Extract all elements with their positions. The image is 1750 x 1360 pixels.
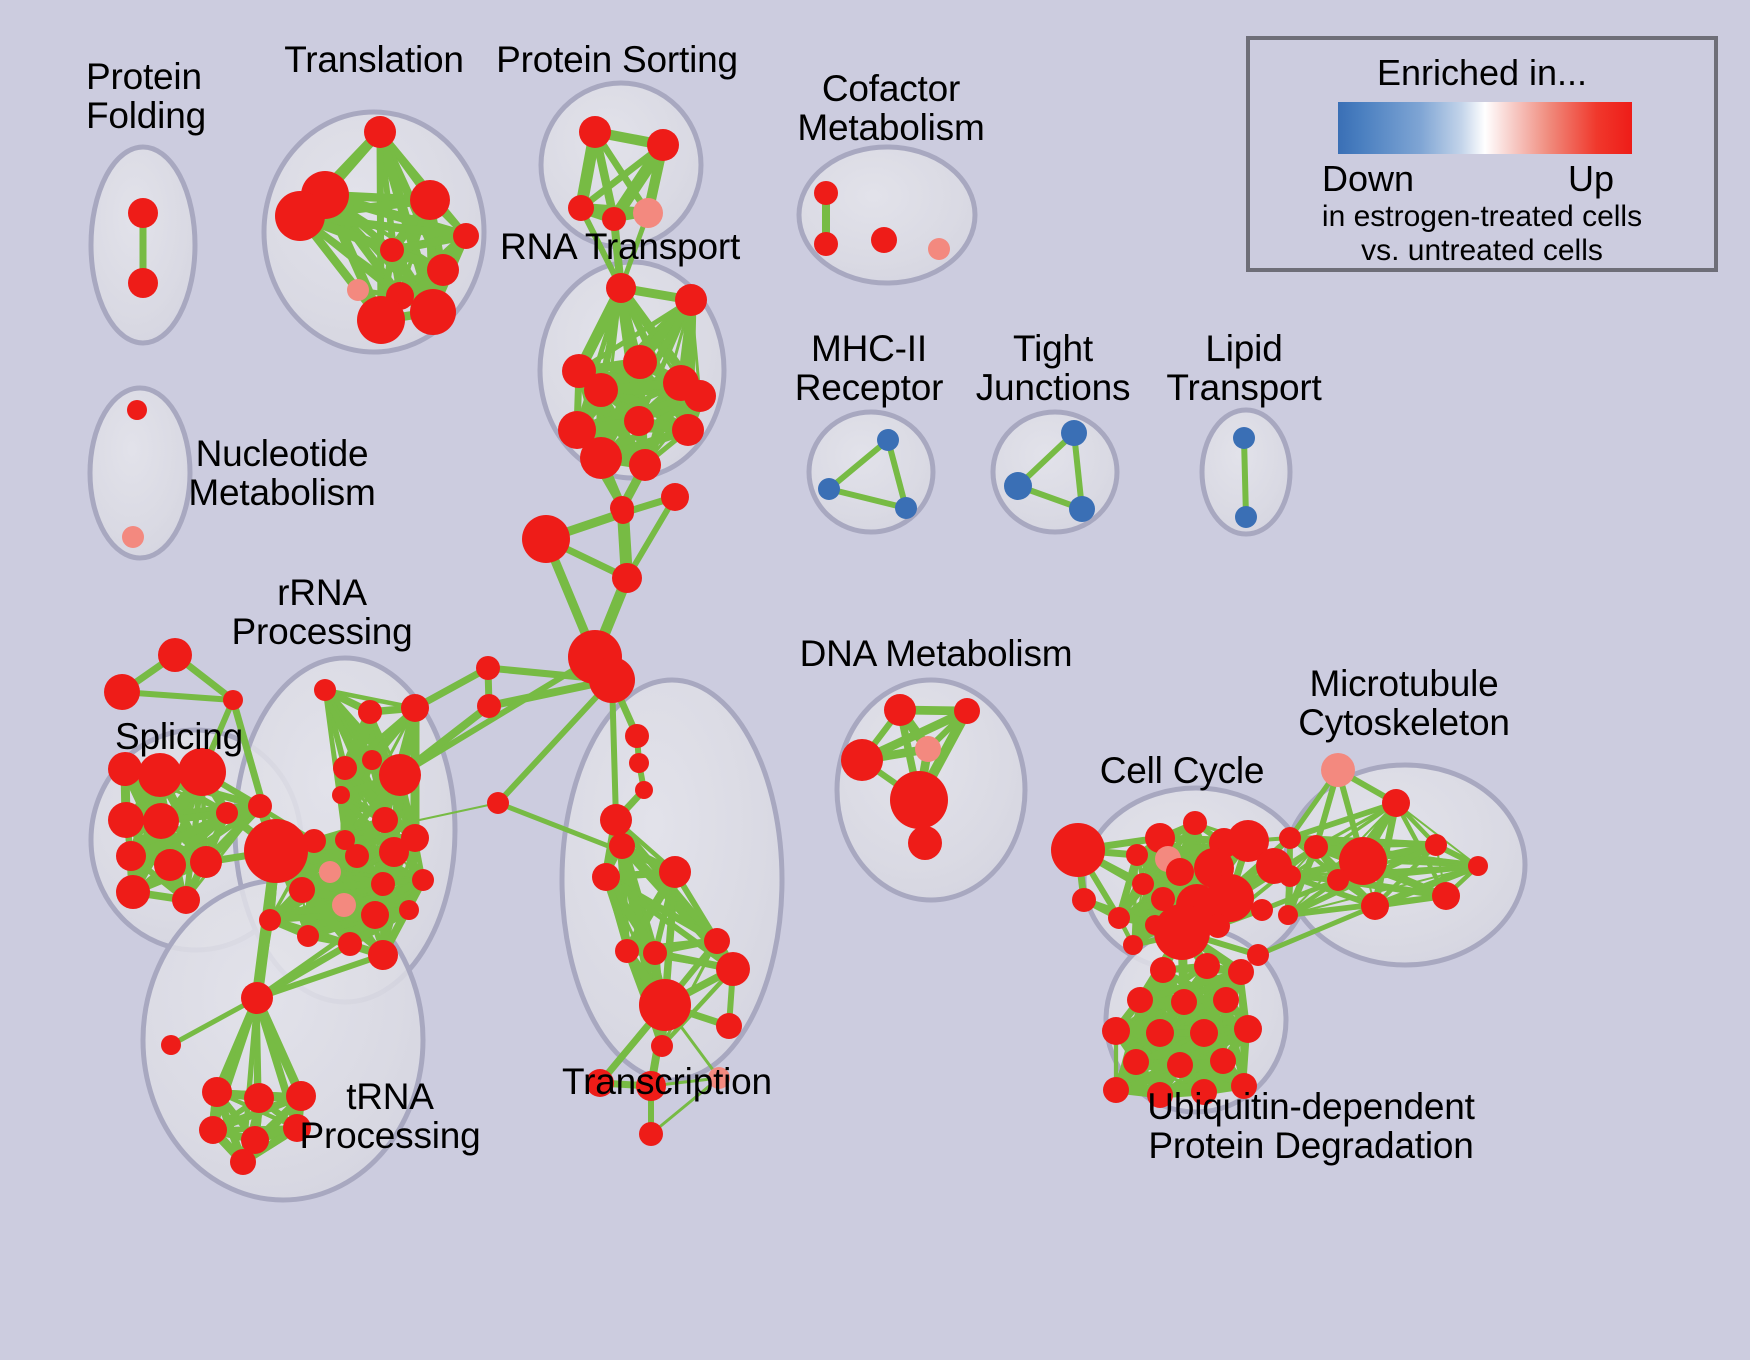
- network-node: [568, 195, 594, 221]
- network-node: [379, 754, 421, 796]
- network-node: [1425, 834, 1447, 856]
- network-node: [1278, 905, 1298, 925]
- network-node: [116, 875, 150, 909]
- network-node: [623, 345, 657, 379]
- network-node: [1247, 944, 1269, 966]
- cluster-label-dna-metabolism: DNA Metabolism: [800, 635, 1073, 674]
- network-node: [884, 694, 916, 726]
- network-node: [154, 849, 186, 881]
- legend-down-label: Down: [1322, 158, 1414, 200]
- network-node: [1382, 789, 1410, 817]
- network-node: [476, 656, 500, 680]
- network-node: [104, 674, 140, 710]
- network-node: [487, 792, 509, 814]
- network-node: [871, 227, 897, 253]
- network-node: [1108, 907, 1130, 929]
- network-node: [275, 191, 325, 241]
- network-node: [1072, 888, 1096, 912]
- network-node: [1069, 496, 1095, 522]
- network-node: [127, 400, 147, 420]
- network-node: [347, 279, 369, 301]
- network-node: [1051, 823, 1105, 877]
- cluster-label-nucleotide-metabolism: Nucleotide Metabolism: [188, 435, 375, 513]
- network-node: [684, 380, 716, 412]
- network-node: [248, 794, 272, 818]
- network-node: [609, 833, 635, 859]
- network-node: [357, 296, 405, 344]
- network-node: [1468, 856, 1488, 876]
- network-node: [1321, 753, 1355, 787]
- network-node: [651, 1035, 673, 1057]
- network-node: [659, 856, 691, 888]
- network-node: [818, 478, 840, 500]
- network-node: [1061, 420, 1087, 446]
- network-node: [122, 526, 144, 548]
- network-node: [1154, 904, 1210, 960]
- network-node: [410, 289, 456, 335]
- network-node: [401, 824, 429, 852]
- network-node: [345, 844, 369, 868]
- network-node: [584, 373, 618, 407]
- network-node: [128, 198, 158, 228]
- network-node: [928, 238, 950, 260]
- network-node: [108, 802, 144, 838]
- cluster-label-microtubule-cytoskeleton: Microtubule Cytoskeleton: [1298, 665, 1510, 743]
- cluster-label-protein-sorting: Protein Sorting: [496, 41, 738, 80]
- network-node: [410, 180, 450, 220]
- network-node: [477, 694, 501, 718]
- cluster-label-lipid-transport: Lipid Transport: [1166, 330, 1321, 408]
- cluster-label-protein-folding: Protein Folding: [86, 58, 206, 136]
- network-node: [615, 939, 639, 963]
- network-node: [624, 406, 654, 436]
- network-node: [230, 1149, 256, 1175]
- network-node: [589, 657, 635, 703]
- network-node: [216, 802, 238, 824]
- network-node: [172, 886, 200, 914]
- network-node: [314, 679, 336, 701]
- network-node: [1304, 835, 1328, 859]
- network-node: [592, 863, 620, 891]
- network-node: [158, 638, 192, 672]
- cluster-label-mhc-ii-receptor: MHC-II Receptor: [795, 330, 944, 408]
- network-node: [606, 273, 636, 303]
- network-node: [1233, 427, 1255, 449]
- cluster-label-transcription: Transcription: [562, 1063, 772, 1102]
- cluster-label-splicing: Splicing: [115, 718, 243, 757]
- cluster-label-rrna-processing: rRNA Processing: [231, 574, 412, 652]
- network-node: [361, 901, 389, 929]
- network-node: [399, 900, 419, 920]
- cluster-halo-tight: [993, 412, 1117, 532]
- network-node: [364, 116, 396, 148]
- network-node: [1251, 899, 1273, 921]
- cluster-label-rna-transport: RNA Transport: [500, 228, 740, 267]
- network-node: [1004, 472, 1032, 500]
- network-node: [814, 181, 838, 205]
- network-node: [1127, 987, 1153, 1013]
- network-node: [579, 116, 611, 148]
- network-node: [371, 872, 395, 896]
- network-node: [1123, 1049, 1149, 1075]
- network-node: [1167, 1052, 1193, 1078]
- network-node: [1279, 865, 1301, 887]
- network-node: [639, 1122, 663, 1146]
- network-node: [368, 940, 398, 970]
- legend-title: Enriched in...: [1250, 52, 1714, 94]
- legend-color-gradient-bar: [1338, 102, 1632, 154]
- network-node: [522, 515, 570, 563]
- network-node: [289, 877, 315, 903]
- network-node: [1132, 873, 1154, 895]
- network-node: [954, 698, 980, 724]
- network-node: [1190, 1019, 1218, 1047]
- network-node: [332, 786, 350, 804]
- network-node: [915, 736, 941, 762]
- cluster-label-tight-junctions: Tight Junctions: [976, 330, 1131, 408]
- network-node: [625, 724, 649, 748]
- network-node: [1213, 987, 1239, 1013]
- network-node: [672, 414, 704, 446]
- network-node: [1194, 953, 1220, 979]
- network-node: [639, 979, 691, 1031]
- network-node: [716, 952, 750, 986]
- legend-box: Enriched in... Down Up in estrogen-treat…: [1246, 36, 1718, 272]
- legend-subtitle-line-1: in estrogen-treated cells: [1250, 200, 1714, 234]
- network-node: [202, 1077, 232, 1107]
- network-node: [190, 846, 222, 878]
- network-node: [259, 909, 281, 931]
- network-node: [297, 925, 319, 947]
- cluster-label-cell-cycle: Cell Cycle: [1100, 752, 1265, 791]
- cluster-label-translation: Translation: [284, 41, 463, 80]
- network-node: [841, 739, 883, 781]
- network-node: [612, 563, 642, 593]
- network-node: [877, 429, 899, 451]
- network-node: [223, 690, 243, 710]
- network-node: [1123, 935, 1143, 955]
- network-node: [412, 869, 434, 891]
- enrichment-map-figure: Protein FoldingTranslationProtein Sortin…: [0, 0, 1750, 1360]
- network-node: [244, 819, 308, 883]
- network-node: [716, 1013, 742, 1039]
- network-node: [647, 129, 679, 161]
- network-node: [1228, 959, 1254, 985]
- network-node: [401, 694, 429, 722]
- network-node: [358, 700, 382, 724]
- network-node: [814, 232, 838, 256]
- network-node: [1166, 858, 1194, 886]
- network-node: [453, 223, 479, 249]
- network-node: [1235, 506, 1257, 528]
- network-node: [612, 502, 634, 524]
- network-node: [128, 268, 158, 298]
- network-node: [138, 753, 182, 797]
- network-node: [1279, 827, 1301, 849]
- network-node: [1103, 1077, 1129, 1103]
- network-node: [143, 803, 179, 839]
- network-node: [338, 932, 362, 956]
- network-node: [241, 982, 273, 1014]
- cluster-label-trna-processing: tRNA Processing: [299, 1078, 480, 1156]
- network-node: [629, 449, 661, 481]
- network-node: [629, 753, 649, 773]
- legend-subtitle-line-2: vs. untreated cells: [1250, 234, 1714, 268]
- network-node: [1150, 957, 1176, 983]
- cluster-label-cofactor-metabolism: Cofactor Metabolism: [797, 70, 984, 148]
- network-node: [890, 771, 948, 829]
- network-node: [1361, 892, 1389, 920]
- network-node: [1327, 869, 1349, 891]
- network-node: [244, 1083, 274, 1113]
- network-node: [161, 1035, 181, 1055]
- network-node: [427, 254, 459, 286]
- network-node: [1146, 1019, 1174, 1047]
- network-edge: [1244, 438, 1246, 517]
- network-node: [319, 861, 341, 883]
- cluster-label-ubiquitin-degradation: Ubiquitin-dependent Protein Degradation: [1147, 1088, 1474, 1166]
- network-node: [1234, 1015, 1262, 1043]
- network-node: [1126, 844, 1148, 866]
- network-node: [199, 1116, 227, 1144]
- network-node: [116, 841, 146, 871]
- network-node: [1206, 914, 1230, 938]
- network-node: [1206, 874, 1254, 922]
- network-node: [600, 804, 632, 836]
- network-node: [332, 893, 356, 917]
- network-node: [1171, 989, 1197, 1015]
- network-node: [1210, 1048, 1236, 1074]
- network-node: [380, 238, 404, 262]
- network-node: [633, 198, 663, 228]
- network-node: [108, 752, 142, 786]
- network-node: [372, 807, 398, 833]
- network-node: [580, 437, 622, 479]
- network-node: [704, 928, 730, 954]
- network-node: [675, 284, 707, 316]
- network-node: [1183, 811, 1207, 835]
- network-node: [908, 826, 942, 860]
- legend-up-label: Up: [1568, 158, 1614, 200]
- network-node: [1432, 882, 1460, 910]
- network-node: [333, 756, 357, 780]
- network-node: [661, 483, 689, 511]
- network-node: [362, 750, 382, 770]
- network-node: [635, 781, 653, 799]
- network-node: [895, 497, 917, 519]
- network-node: [643, 941, 667, 965]
- network-node: [1102, 1017, 1130, 1045]
